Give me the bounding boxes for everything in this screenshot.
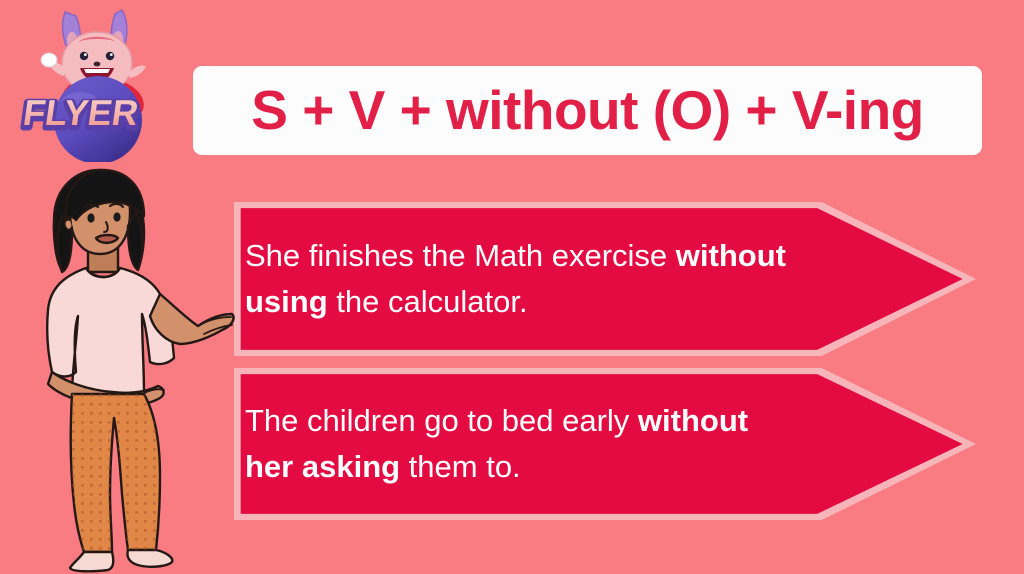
arrow-banner-2: The children go to bed early without her… [234, 368, 976, 520]
flyer-logo: F FLYER FLYER [18, 2, 178, 162]
arrow-banner-2-line-1: The children go to bed early without [245, 398, 856, 444]
b1-l2-bold: using [245, 284, 328, 319]
b2-l1-plain: The children go to bed early [245, 403, 638, 438]
b2-l1-bold: without [638, 403, 748, 438]
b2-l2-bold: her asking [245, 449, 400, 484]
page-title: S + V + without (O) + V-ing [251, 83, 924, 138]
arrow-banner-1-line-2: using the calculator. [245, 279, 856, 325]
arrow-banner-1-line-1: She finishes the Math exercise without [245, 233, 856, 279]
flyer-wordmark-text: FLYER [21, 92, 141, 133]
title-box: S + V + without (O) + V-ing [193, 66, 982, 155]
b1-l1-bold: without [676, 238, 786, 273]
b1-l1-plain: She finishes the Math exercise [245, 238, 676, 273]
arrow-banner-1-text: She finishes the Math exercise without u… [245, 202, 856, 356]
woman-presenting-illustration [26, 168, 241, 574]
arrow-banner-2-text: The children go to bed early without her… [245, 368, 856, 520]
b2-l2-plain: them to. [400, 449, 521, 484]
flyer-wordmark: FLYER FLYER [20, 92, 141, 135]
arrow-banner-2-line-2: her asking them to. [245, 444, 856, 490]
pants-texture [71, 394, 160, 552]
b1-l2-plain: the calculator. [328, 284, 528, 319]
arrow-banner-1: She finishes the Math exercise without u… [234, 202, 976, 356]
slide-canvas: F FLYER FLYER S + V + without (O) + V-in… [0, 0, 1024, 574]
